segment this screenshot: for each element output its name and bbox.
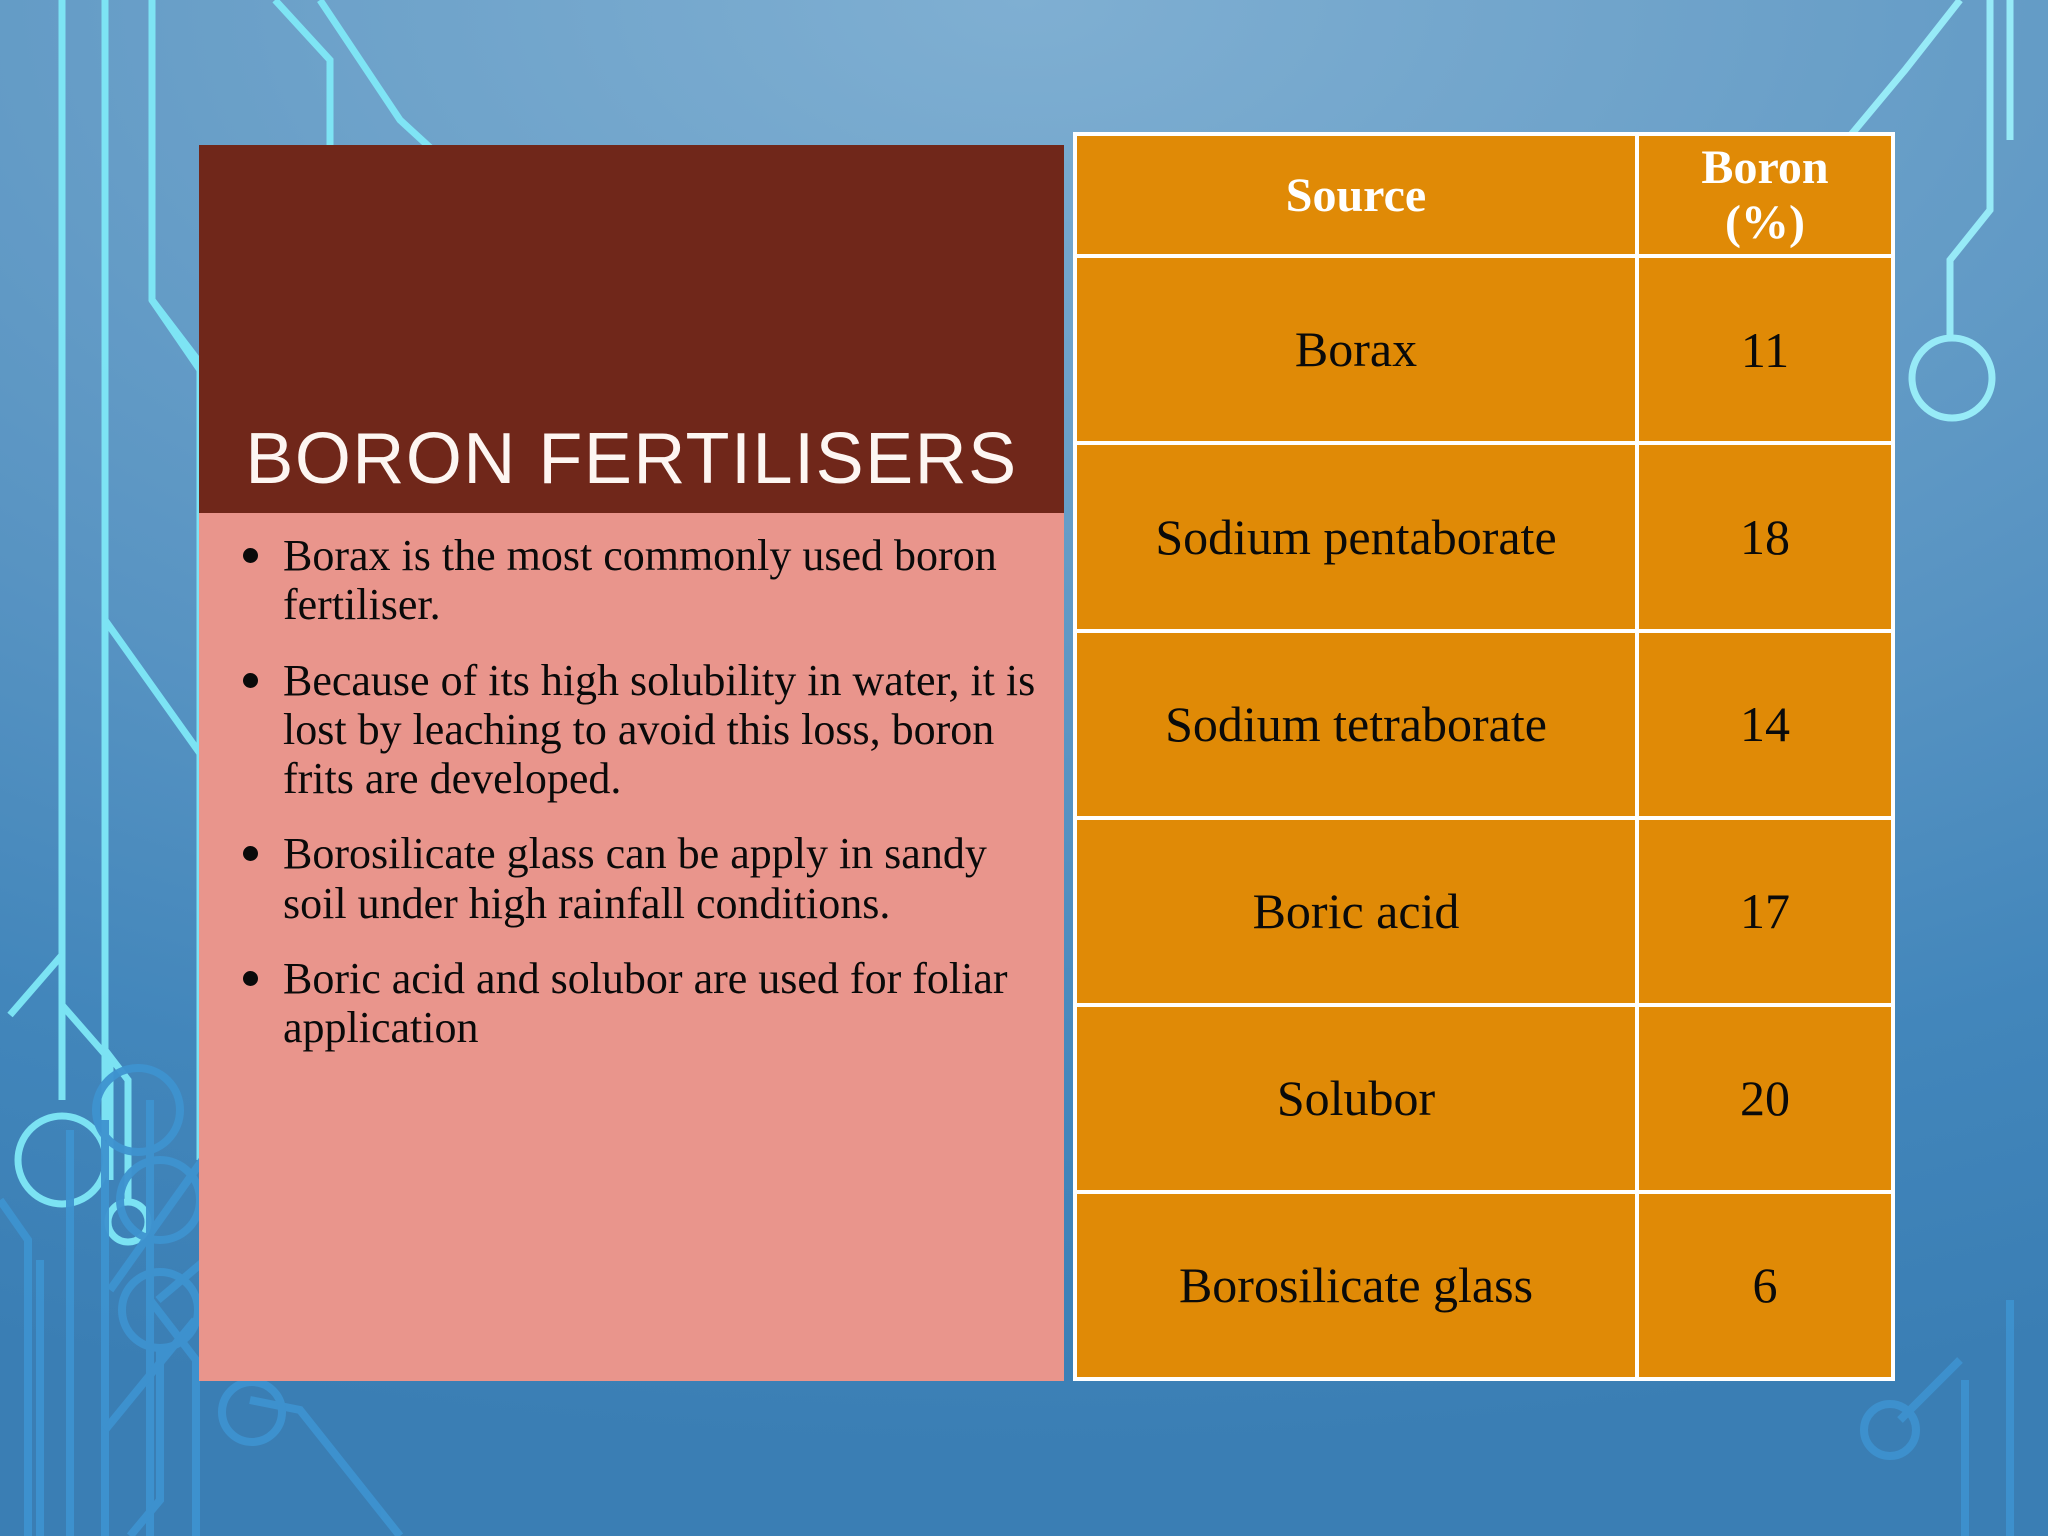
table-header-row: Source Boron (%) xyxy=(1075,134,1893,256)
column-header-boron-line1: Boron xyxy=(1701,141,1828,194)
table-row: Solubor 20 xyxy=(1075,1005,1893,1192)
column-header-source: Source xyxy=(1075,134,1637,256)
cell-source: Sodium pentaborate xyxy=(1075,443,1637,630)
cell-boron: 18 xyxy=(1637,443,1893,630)
column-header-boron: Boron (%) xyxy=(1637,134,1893,256)
column-header-boron-line2: (%) xyxy=(1725,196,1805,249)
slide-canvas: BORON FERTILISERS Borax is the most comm… xyxy=(0,0,2048,1536)
table-header: Source Boron (%) xyxy=(1075,134,1893,256)
cell-source: Borax xyxy=(1075,256,1637,443)
cell-source: Sodium tetraborate xyxy=(1075,631,1637,818)
list-item: Because of its high solubility in water,… xyxy=(223,656,1036,804)
boron-source-table: Source Boron (%) Borax 11 Sodium pentabo… xyxy=(1073,132,1895,1381)
table-row: Boric acid 17 xyxy=(1075,818,1893,1005)
table-body: Borax 11 Sodium pentaborate 18 Sodium te… xyxy=(1075,256,1893,1379)
table-row: Sodium tetraborate 14 xyxy=(1075,631,1893,818)
cell-source: Boric acid xyxy=(1075,818,1637,1005)
cell-boron: 17 xyxy=(1637,818,1893,1005)
cell-boron: 14 xyxy=(1637,631,1893,818)
bullet-list: Borax is the most commonly used boron fe… xyxy=(223,531,1036,1052)
title-block: BORON FERTILISERS xyxy=(199,145,1064,513)
list-item: Borax is the most commonly used boron fe… xyxy=(223,531,1036,630)
cell-boron: 11 xyxy=(1637,256,1893,443)
table-row: Borax 11 xyxy=(1075,256,1893,443)
cell-boron: 20 xyxy=(1637,1005,1893,1192)
cell-boron: 6 xyxy=(1637,1192,1893,1379)
page-title: BORON FERTILISERS xyxy=(245,423,1017,495)
cell-source: Solubor xyxy=(1075,1005,1637,1192)
table-row: Sodium pentaborate 18 xyxy=(1075,443,1893,630)
table-row: Borosilicate glass 6 xyxy=(1075,1192,1893,1379)
list-item: Borosilicate glass can be apply in sandy… xyxy=(223,829,1036,928)
list-item: Boric acid and solubor are used for foli… xyxy=(223,954,1036,1053)
content-panel: Borax is the most commonly used boron fe… xyxy=(199,513,1064,1381)
cell-source: Borosilicate glass xyxy=(1075,1192,1637,1379)
